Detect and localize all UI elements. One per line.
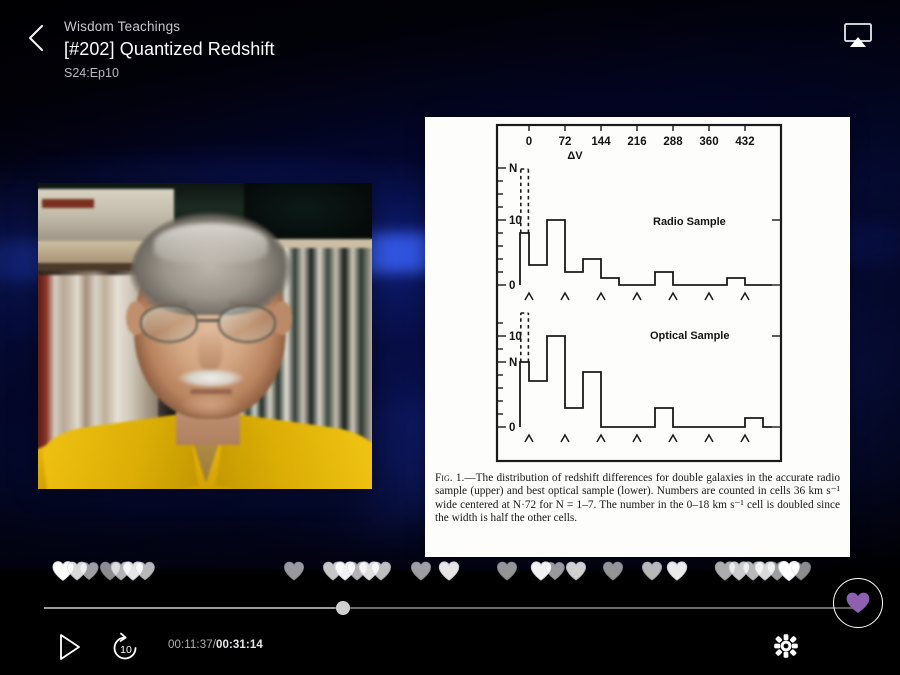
- rewind-seconds-label: 10: [108, 631, 142, 665]
- heart-marker[interactable]: [410, 560, 432, 582]
- heart-icon: [641, 560, 663, 582]
- heart-icon: [410, 560, 432, 582]
- lower-panel-label: Optical Sample: [650, 330, 729, 342]
- heart-marker[interactable]: [370, 560, 392, 582]
- heart-marker[interactable]: [496, 560, 518, 582]
- ytick-lower-0: 0: [509, 422, 515, 434]
- heart-marker[interactable]: [79, 561, 100, 582]
- upper-dashed-doubled-cell: [521, 169, 529, 233]
- progress-bar[interactable]: [44, 601, 856, 615]
- scientific-figure-panel: 0 72 144 216 288 360 432 ΔV: [425, 117, 850, 557]
- series-name: Wisdom Teachings: [64, 18, 275, 35]
- heart-icon: [283, 560, 305, 582]
- xtick-144: 144: [591, 136, 611, 148]
- heart-icon: [565, 560, 587, 582]
- heart-marker[interactable]: [283, 560, 305, 582]
- upper-histogram-outline: [520, 220, 772, 285]
- heart-marker[interactable]: [602, 560, 624, 582]
- airplay-icon: [838, 20, 878, 52]
- heart-marker[interactable]: [790, 560, 812, 582]
- transport-controls: 10 00:11:37/00:31:14: [0, 622, 900, 674]
- play-button[interactable]: [52, 630, 86, 664]
- progress-scrubber-handle[interactable]: [336, 601, 350, 615]
- xtick-72: 72: [559, 136, 572, 148]
- xtick-216: 216: [627, 136, 646, 148]
- heart-icon: [134, 560, 156, 582]
- favorite-button[interactable]: [833, 578, 883, 628]
- lower-dashed-doubled-cell: [521, 313, 529, 362]
- heart-markers-strip: [0, 560, 900, 596]
- heart-marker[interactable]: [666, 560, 688, 582]
- title-block: Wisdom Teachings [#202] Quantized Redshi…: [64, 18, 275, 81]
- xaxis-label: ΔV: [567, 150, 583, 162]
- heart-icon: [544, 560, 565, 581]
- lower-histogram-outline: [520, 336, 772, 427]
- xtick-432: 432: [735, 136, 754, 148]
- heart-marker[interactable]: [544, 560, 565, 581]
- heart-marker[interactable]: [641, 560, 663, 582]
- ytick-upper-0: 0: [509, 280, 515, 292]
- heart-icon: [602, 560, 624, 582]
- video-player-screen: Wisdom Teachings [#202] Quantized Redshi…: [0, 0, 900, 675]
- redshift-histogram-figure: 0 72 144 216 288 360 432 ΔV: [425, 117, 850, 469]
- gear-icon: [771, 631, 801, 661]
- heart-marker[interactable]: [438, 560, 460, 582]
- heart-marker[interactable]: [134, 560, 156, 582]
- speaker-image: [38, 183, 372, 489]
- xtick-0: 0: [526, 136, 532, 148]
- xtick-360: 360: [699, 136, 718, 148]
- ytick-upper-10: 10: [509, 215, 522, 227]
- ytick-upper-N: N: [509, 163, 517, 175]
- heart-icon: [666, 560, 688, 582]
- play-icon: [52, 630, 86, 664]
- episode-title: [#202] Quantized Redshift: [64, 37, 275, 62]
- player-controls-bar: 10 00:11:37/00:31:14: [0, 596, 900, 675]
- lower-arrow-markers: [525, 435, 749, 442]
- rewind-10-button[interactable]: 10: [108, 631, 142, 665]
- xtick-288: 288: [663, 136, 683, 148]
- figure-caption-body: —The distribution of redshift difference…: [435, 472, 840, 524]
- total-time: 00:31:14: [216, 639, 263, 651]
- ytick-lower-10: 10: [509, 331, 522, 343]
- airplay-button[interactable]: [838, 20, 878, 52]
- heart-icon: [438, 560, 460, 582]
- top-bar: Wisdom Teachings [#202] Quantized Redshi…: [0, 0, 900, 100]
- progress-elapsed: [44, 607, 343, 609]
- upper-panel-label: Radio Sample: [653, 216, 726, 228]
- heart-icon: [790, 560, 812, 582]
- heart-icon: [370, 560, 392, 582]
- heart-icon: [79, 561, 100, 582]
- figure-caption-label: Fig. 1.: [435, 472, 464, 484]
- heart-icon: [845, 591, 871, 615]
- figure-caption: Fig. 1.—The distribution of redshift dif…: [435, 472, 840, 526]
- episode-meta: S24:Ep10: [64, 65, 275, 81]
- settings-button[interactable]: [771, 631, 801, 661]
- time-display: 00:11:37/00:31:14: [168, 639, 263, 651]
- current-time: 00:11:37: [168, 639, 213, 651]
- back-button[interactable]: [20, 20, 52, 56]
- image-softening-overlay: [38, 183, 372, 489]
- chevron-left-icon: [20, 20, 52, 56]
- heart-marker[interactable]: [565, 560, 587, 582]
- speaker-video-thumbnail: [38, 183, 372, 489]
- upper-arrow-markers: [525, 293, 749, 300]
- ytick-lower-N: N: [509, 357, 517, 369]
- heart-icon: [496, 560, 518, 582]
